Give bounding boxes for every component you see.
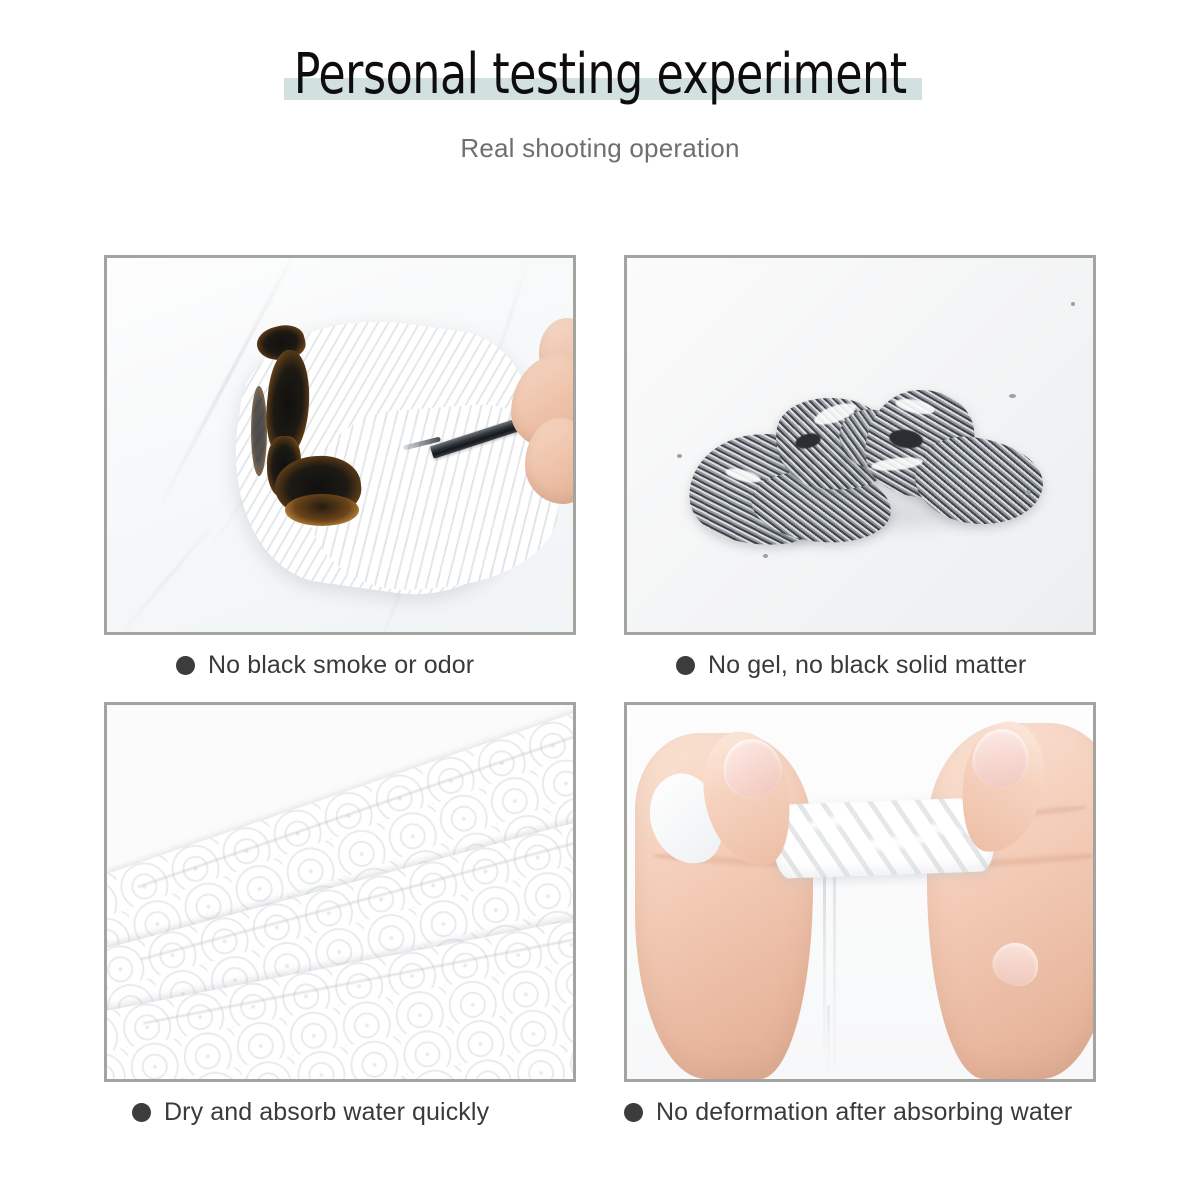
caption-wet-strength-test: No deformation after absorbing water bbox=[624, 1098, 1096, 1127]
photo-ash-residue-test bbox=[624, 255, 1096, 635]
caption-label: No black smoke or odor bbox=[208, 651, 474, 680]
filled-circle-bullet-icon bbox=[624, 1103, 643, 1122]
caption-label: No deformation after absorbing water bbox=[656, 1098, 1072, 1127]
experiment-card-absorbency-test: Dry and absorb water quickly bbox=[104, 702, 576, 1127]
ash-fleck bbox=[1025, 490, 1031, 495]
filled-circle-bullet-icon bbox=[132, 1103, 151, 1122]
caption-absorbency-test: Dry and absorb water quickly bbox=[104, 1098, 576, 1127]
ash-fleck bbox=[1071, 302, 1075, 306]
photo-wet-strength-test bbox=[624, 702, 1096, 1082]
filled-circle-bullet-icon bbox=[676, 656, 695, 675]
caption-label: Dry and absorb water quickly bbox=[164, 1098, 489, 1127]
water-drip bbox=[833, 875, 836, 1071]
ash-fleck bbox=[763, 554, 768, 558]
ash-fleck bbox=[677, 454, 682, 458]
charred-edge bbox=[251, 386, 267, 476]
page-title-wrapper: Personal testing experiment bbox=[252, 46, 948, 105]
water-drip bbox=[823, 871, 826, 1053]
page-subtitle: Real shooting operation bbox=[0, 133, 1200, 164]
photo-absorbency-test bbox=[104, 702, 576, 1082]
experiment-card-burn-test: No black smoke or odor bbox=[104, 255, 576, 680]
page-title: Personal testing experiment bbox=[294, 46, 907, 105]
water-drip bbox=[827, 1005, 830, 1075]
caption-burn-test: No black smoke or odor bbox=[104, 651, 576, 680]
experiment-card-wet-strength-test: No deformation after absorbing water bbox=[624, 702, 1096, 1127]
charred-edge bbox=[285, 494, 359, 526]
filled-circle-bullet-icon bbox=[176, 656, 195, 675]
experiment-card-ash-residue-test: No gel, no black solid matter bbox=[624, 255, 1096, 680]
photo-burn-test bbox=[104, 255, 576, 635]
section-header: Personal testing experiment Real shootin… bbox=[0, 0, 1200, 164]
product-detail-page: Personal testing experiment Real shootin… bbox=[0, 0, 1200, 1200]
ash-fleck bbox=[1009, 394, 1016, 398]
caption-ash-residue-test: No gel, no black solid matter bbox=[624, 651, 1096, 680]
caption-label: No gel, no black solid matter bbox=[708, 651, 1026, 680]
